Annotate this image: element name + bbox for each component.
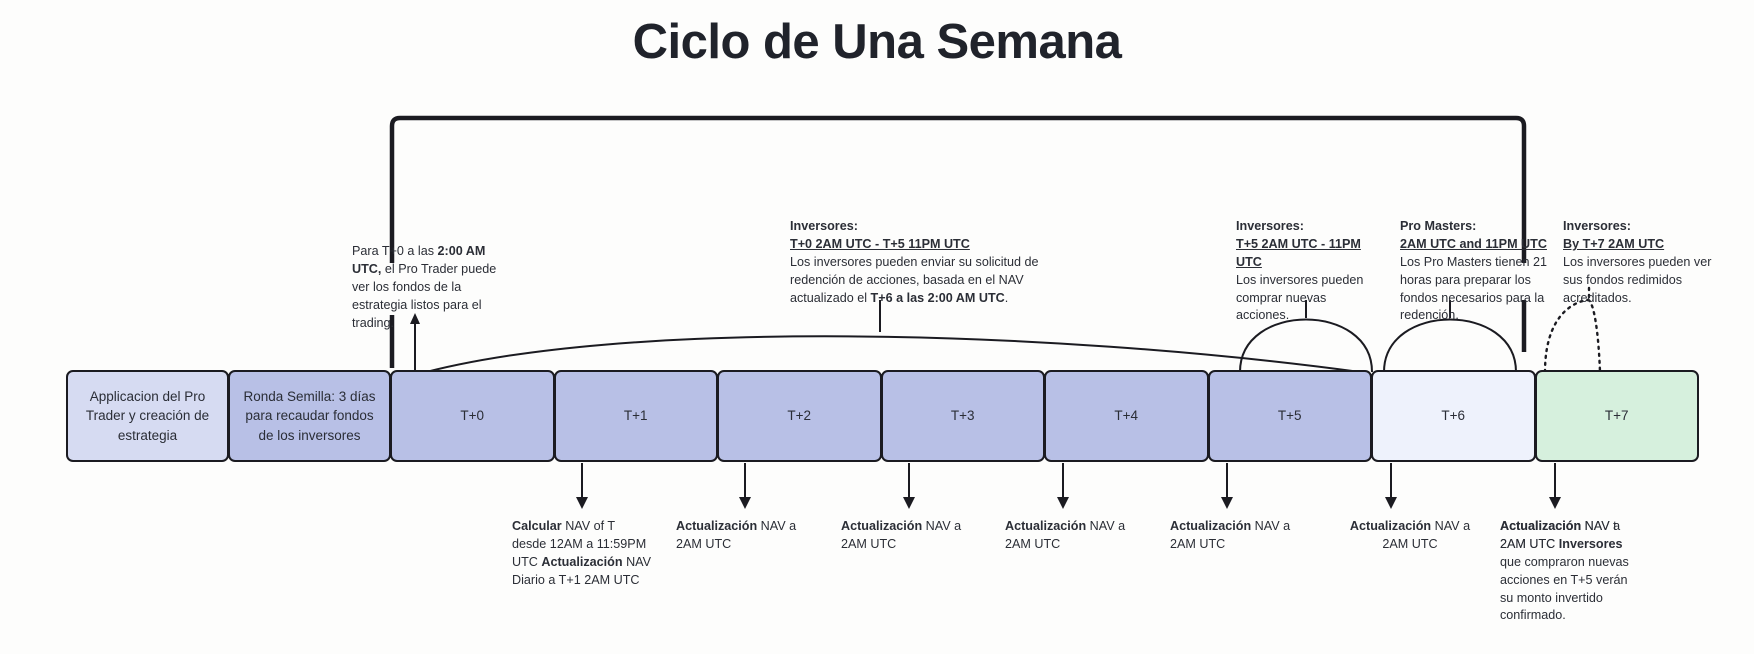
note-credited-heading: Inversores: [1563,218,1713,236]
note-funds-credited: Inversores: By T+7 2AM UTC Los inversore… [1563,218,1713,307]
timeline-cell-label: T+3 [951,406,975,426]
timeline-cell-t1[interactable]: T+1 [554,370,719,462]
note-promasters-range: 2AM UTC and 11PM UTC [1400,236,1555,254]
bottom-note-t0-nav: Calcular NAV of T desde 12AM a 11:59PM U… [512,518,652,590]
note-redemption-heading: Inversores: [790,218,1073,236]
timeline-cell-t3[interactable]: T+3 [881,370,1046,462]
bottom-note-t7-nav: Actualización NAV t 2AM UTC [1500,518,1640,554]
bottom-note-segment: Actualización [676,519,757,533]
t7-dotted-arc-2 [1588,300,1600,372]
bottom-note-t2-nav: Actualización NAV a 2AM UTC [841,518,971,554]
bottom-note-segment: Calcular [512,519,562,533]
note-redemption-body-bold: T+6 a las 2:00 AM UTC [871,291,1005,305]
note-credited-range: By T+7 2AM UTC [1563,236,1713,254]
bottom-note-segment: Actualización [1005,519,1086,533]
bottom-note-segment: Actualización [1350,519,1431,533]
note-buy-heading: Inversores: [1236,218,1381,236]
timeline-cell-label: T+7 [1605,406,1629,426]
t6-arc [1384,320,1516,373]
note-credited-body: Los inversores pueden ver sus fondos red… [1563,254,1713,308]
timeline-cell-label: T+1 [624,406,648,426]
bottom-note-segment: que compraron nuevas acciones en T+5 ver… [1500,555,1629,623]
bottom-note-segment: Actualización [1500,519,1581,533]
connector-layer [0,0,1754,654]
timeline-cell-label: T+5 [1278,406,1302,426]
bottom-note-t5-nav: Actualización NAV a 2AM UTC [1345,518,1475,554]
timeline-cell-t0[interactable]: T+0 [390,370,555,462]
note-promasters-heading: Pro Masters: [1400,218,1555,236]
timeline-cell-t5[interactable]: T+5 [1208,370,1373,462]
note-redemption-window: Inversores: T+0 2AM UTC - T+5 11PM UTC L… [790,218,1073,307]
page-title: Ciclo de Una Semana [0,14,1754,70]
bottom-note-t3-nav: Actualización NAV a 2AM UTC [1005,518,1135,554]
timeline-cell-application[interactable]: Applicacion del Pro Trader y creación de… [66,370,229,462]
week-cycle-timeline: Applicacion del Pro Trader y creación de… [66,370,1721,462]
timeline-cell-label: Applicacion del Pro Trader y creación de… [76,387,219,446]
note-pro-masters: Pro Masters: 2AM UTC and 11PM UTC Los Pr… [1400,218,1555,325]
timeline-cell-t7[interactable]: T+7 [1535,370,1700,462]
bottom-arrows [576,463,1561,509]
bottom-note-segment: Actualización [541,555,622,569]
timeline-cell-label: T+4 [1114,406,1138,426]
note-redemption-range: T+0 2AM UTC - T+5 11PM UTC [790,236,1073,254]
bottom-note-segment: Actualización [1170,519,1251,533]
note-t0-line1-plain: Para T+0 a las [352,244,438,258]
timeline-cell-label: T+0 [460,406,484,426]
note-buy-range: T+5 2AM UTC - 11PM UTC [1236,236,1381,272]
timeline-cell-seed-round[interactable]: Ronda Semilla: 3 días para recaudar fond… [228,370,391,462]
timeline-cell-t4[interactable]: T+4 [1044,370,1209,462]
note-buy-new-shares: Inversores: T+5 2AM UTC - 11PM UTC Los i… [1236,218,1381,325]
bottom-note-t4-nav: Actualización NAV a 2AM UTC [1170,518,1300,554]
note-t0-funds-ready: Para T+0 a las 2:00 AM UTC, el Pro Trade… [352,243,502,332]
timeline-cell-label: T+2 [787,406,811,426]
t5-arc [1240,320,1372,373]
bottom-note-t1-nav: Actualización NAV a 2AM UTC [676,518,806,554]
timeline-cell-t2[interactable]: T+2 [717,370,882,462]
timeline-cell-label: Ronda Semilla: 3 días para recaudar fond… [238,387,381,446]
bottom-note-segment: Actualización [841,519,922,533]
note-redemption-body-end: . [1005,291,1009,305]
note-promasters-body: Los Pro Masters tienen 21 horas para pre… [1400,254,1555,326]
timeline-cell-t6[interactable]: T+6 [1371,370,1536,462]
timeline-cell-label: T+6 [1441,406,1465,426]
note-redemption-body: Los inversores pueden enviar su solicitu… [790,254,1073,308]
note-buy-body: Los inversores pueden comprar nuevas acc… [1236,272,1381,326]
